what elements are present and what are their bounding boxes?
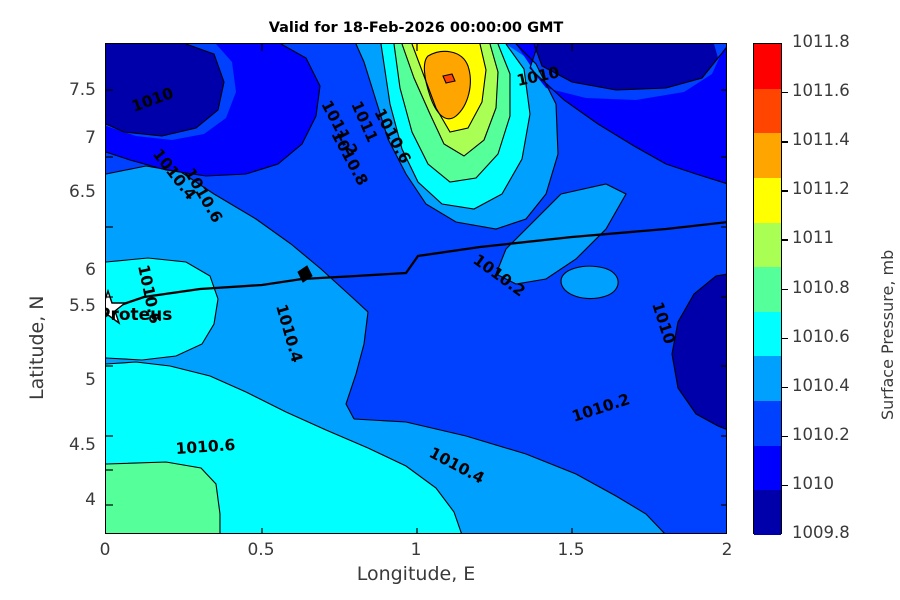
colorbar-label: Surface Pressure, mb <box>878 250 897 420</box>
figure-container: Valid for 18-Feb-2026 00:00:00 GMT <box>0 0 900 600</box>
colorbar-tick-label: 1011.2 <box>792 179 850 198</box>
colorbar-tick-label: 1010.2 <box>792 425 850 444</box>
colorbar-tick-label: 1010.6 <box>792 327 850 346</box>
colorbar-tick-label: 1011.6 <box>792 81 850 100</box>
colorbar-band <box>754 267 781 312</box>
ytick-label: 6.5 <box>18 182 96 202</box>
colorbar-tick <box>782 289 788 290</box>
colorbar-tick <box>782 387 788 388</box>
colorbar-band <box>754 223 781 268</box>
colorbar-band <box>754 446 781 491</box>
colorbar-tick-label: 1010 <box>792 474 834 493</box>
colorbar-tick-label: 1010.8 <box>792 278 850 297</box>
y-axis-label: Latitude, N <box>26 296 48 401</box>
colorbar-tick-label: 1011.4 <box>792 130 850 149</box>
ytick-label: 7 <box>18 128 96 148</box>
ytick-label: 6 <box>18 260 96 280</box>
colorbar-band <box>754 312 781 357</box>
xtick-label: 2 <box>697 540 757 560</box>
colorbar-band <box>754 401 781 446</box>
colorbar-tick <box>782 239 788 240</box>
colorbar-band <box>754 490 781 535</box>
page-title: Valid for 18-Feb-2026 00:00:00 GMT <box>105 20 727 36</box>
colorbar-band <box>754 178 781 223</box>
ytick-label: 7.5 <box>18 80 96 100</box>
xtick-label: 1.5 <box>541 540 601 560</box>
contour-svg: Proteus 1010 1010.4 1010.6 1010.6 1010 1… <box>106 44 727 534</box>
colorbar-tick-label: 1010.4 <box>792 376 850 395</box>
colorbar-tick <box>782 92 788 93</box>
colorbar-band <box>754 44 781 89</box>
colorbar-tick-label: 1011 <box>792 228 834 247</box>
colorbar-tick-label: 1009.8 <box>792 523 850 542</box>
contour-plot-area[interactable]: Proteus 1010 1010.4 1010.6 1010.6 1010 1… <box>105 43 727 534</box>
colorbar-tick <box>782 436 788 437</box>
ytick-label: 4 <box>18 490 96 510</box>
colorbar-band <box>754 89 781 134</box>
xtick-label: 0.5 <box>231 540 291 560</box>
ytick-label: 4.5 <box>18 435 96 455</box>
colorbar-tick <box>782 338 788 339</box>
fill-band-1010.8-sw <box>106 462 220 534</box>
colorbar-band <box>754 133 781 178</box>
colorbar[interactable] <box>753 43 782 534</box>
xtick-label: 0 <box>75 540 135 560</box>
colorbar-tick <box>782 141 788 142</box>
colorbar-tick <box>782 190 788 191</box>
colorbar-tick-label: 1011.8 <box>792 32 850 51</box>
x-axis-label: Longitude, E <box>0 563 832 585</box>
xtick-label: 1 <box>386 540 446 560</box>
colorbar-tick <box>782 485 788 486</box>
colorbar-band <box>754 356 781 401</box>
